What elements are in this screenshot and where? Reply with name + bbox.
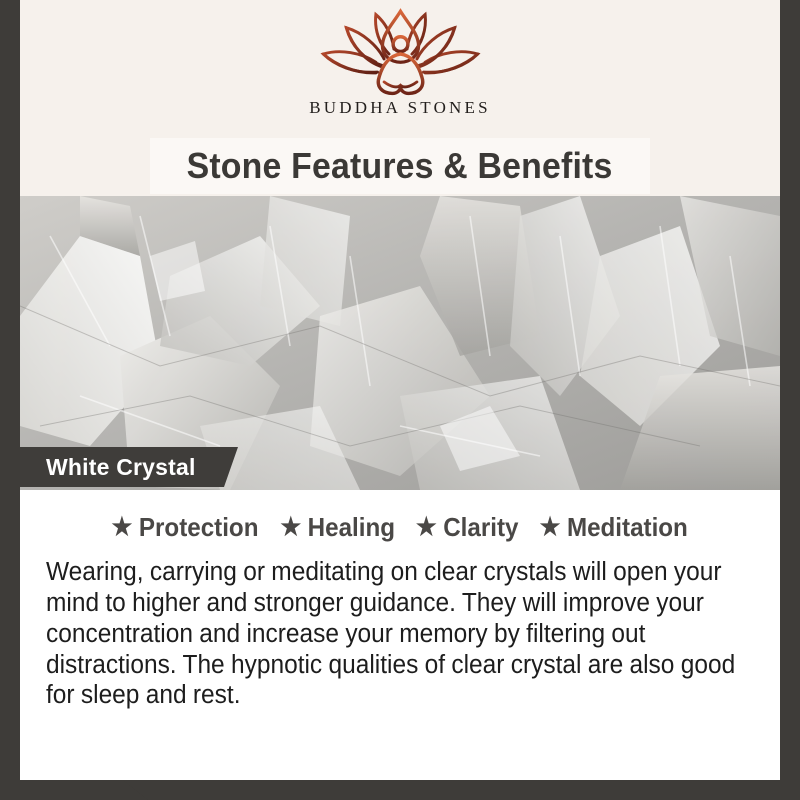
feature-label: Healing <box>308 512 395 543</box>
star-icon: ★ <box>112 515 133 540</box>
poster-root: BUDDHA STONES <box>0 0 800 800</box>
feature-list: ★Protection ★Healing ★Clarity ★Meditatio… <box>46 512 754 543</box>
page-title-band: Stone Features & Benefits <box>150 138 650 194</box>
page-title: Stone Features & Benefits <box>187 145 613 187</box>
white-crystal-cluster-photo <box>20 196 780 490</box>
feature-item-meditation: ★Meditation <box>540 512 688 543</box>
feature-item-clarity: ★Clarity <box>416 512 519 543</box>
star-icon: ★ <box>540 515 561 540</box>
feature-label: Protection <box>139 512 259 543</box>
stone-name-label: White Crystal <box>46 454 196 481</box>
feature-item-healing: ★Healing <box>281 512 396 543</box>
brand-name: BUDDHA STONES <box>309 98 491 118</box>
content-section: ★Protection ★Healing ★Clarity ★Meditatio… <box>20 490 780 780</box>
feature-label: Meditation <box>567 512 688 543</box>
brand-header: BUDDHA STONES <box>20 0 780 140</box>
stone-name-banner: White Crystal <box>20 447 238 487</box>
lotus-meditation-icon <box>318 8 483 100</box>
star-icon: ★ <box>416 515 437 540</box>
description-text: Wearing, carrying or meditating on clear… <box>46 557 753 711</box>
feature-label: Clarity <box>443 512 518 543</box>
star-icon: ★ <box>281 515 302 540</box>
poster-card: BUDDHA STONES <box>20 0 780 780</box>
feature-item-protection: ★Protection <box>112 512 259 543</box>
